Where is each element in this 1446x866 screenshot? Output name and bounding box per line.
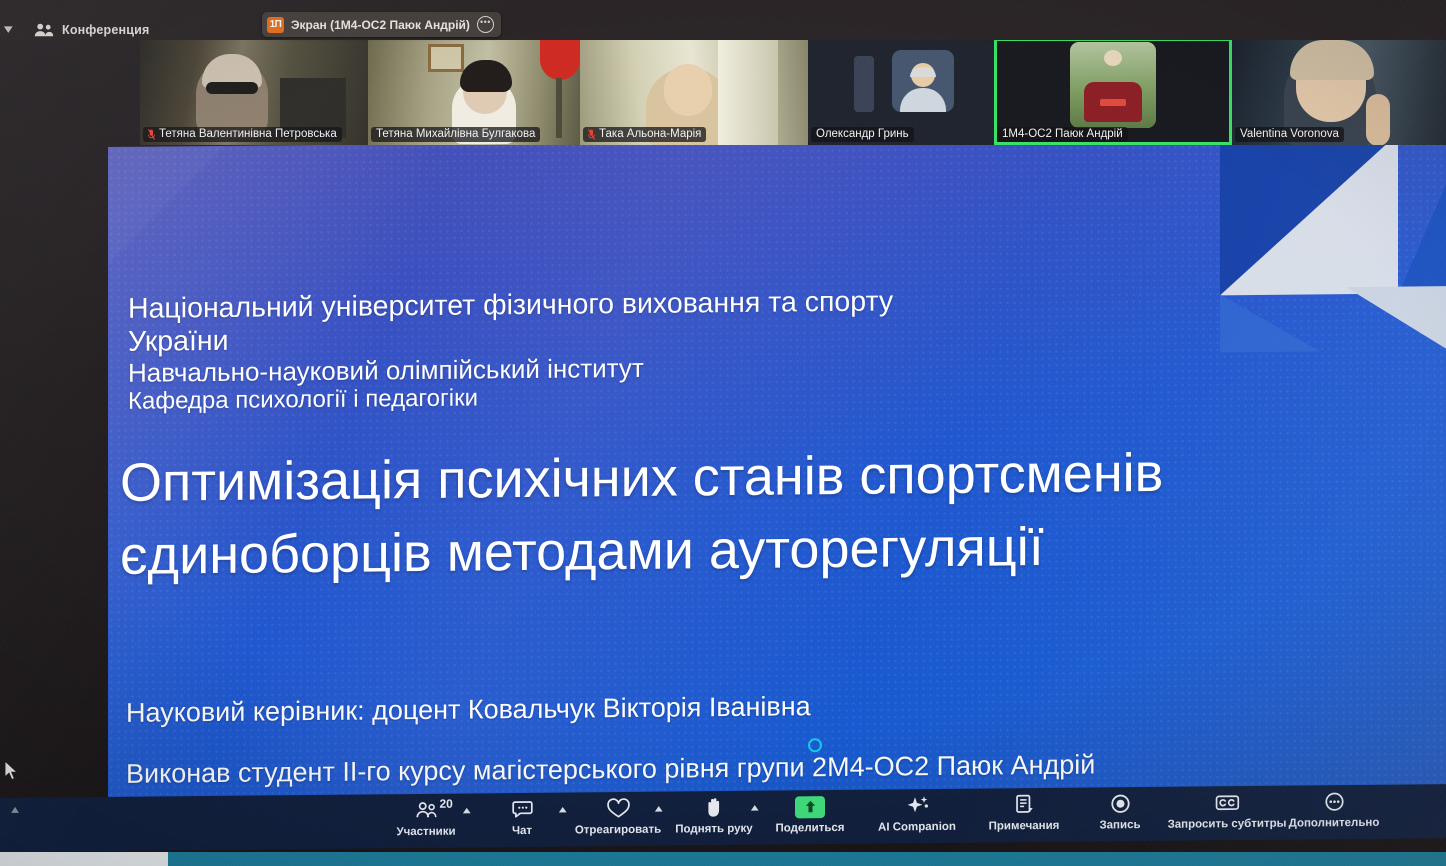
- more-options-icon[interactable]: •••: [477, 16, 494, 33]
- participant-thumbnail[interactable]: Така Альона-Марія: [580, 38, 808, 145]
- record-icon: [1110, 791, 1131, 816]
- chevron-up-icon[interactable]: ▴: [655, 804, 663, 815]
- chevron-up-icon[interactable]: ▴: [559, 805, 567, 816]
- shared-presentation-slide[interactable]: Національний університет фізичного вихов…: [108, 134, 1446, 802]
- participant-name: Тетяна Валентинівна Петровська: [159, 128, 337, 140]
- closed-captions-button[interactable]: Запросить субтитры: [1168, 790, 1286, 831]
- participant-thumbnail[interactable]: Тетяна Валентинівна Петровська: [140, 38, 368, 145]
- participant-name-badge: Олександр Гринь: [811, 127, 914, 142]
- meeting-title: Конференция: [62, 23, 150, 37]
- slide-supervisor: Науковий керівник: доцент Ковальчук Вікт…: [126, 691, 811, 728]
- participant-name-badge: Тетяна Валентинівна Петровська: [143, 127, 342, 142]
- raise-hand-button[interactable]: Поднять руку ▴: [666, 795, 762, 836]
- laser-pointer-icon: [808, 738, 822, 752]
- share-source-label: Экран (1M4-OC2 Паюк Андрій): [291, 18, 470, 32]
- participant-thumbnail[interactable]: Valentina Voronova: [1232, 38, 1446, 145]
- participant-name: Тетяна Михайлівна Булгакова: [376, 128, 535, 140]
- os-taskbar-strip: [0, 852, 1446, 866]
- participant-name: Така Альона-Марія: [599, 128, 701, 140]
- mouse-pointer-icon: [4, 760, 20, 784]
- avatar-backdrop: [854, 56, 874, 112]
- slide-decor-triangle-dark: [1220, 134, 1398, 295]
- participant-name-badge: 1M4-OC2 Паюк Андрій: [997, 127, 1128, 142]
- slide-decor-square: [1220, 134, 1398, 295]
- avatar: [892, 50, 954, 112]
- more-label: Дополнительно: [1289, 817, 1380, 830]
- participant-thumbnail[interactable]: Тетяна Михайлівна Булгакова: [368, 38, 580, 145]
- slide-decor-left-wedge: [108, 145, 226, 266]
- notes-label: Примечания: [989, 820, 1060, 833]
- share-screen-icon: [795, 794, 825, 819]
- participants-icon: 20: [415, 798, 438, 823]
- taskbar-right-pane: [168, 852, 1446, 866]
- muted-mic-icon: [588, 129, 595, 140]
- chevron-down-icon[interactable]: ▾: [4, 22, 13, 35]
- muted-mic-icon: [148, 129, 155, 140]
- ai-companion-label: AI Companion: [878, 821, 956, 834]
- slide-organization-block: Національний університет фізичного вихов…: [128, 281, 1358, 416]
- participant-name: Valentina Voronova: [1240, 128, 1339, 140]
- share-source-badge: 1П: [267, 17, 284, 33]
- share-screen-button[interactable]: Поделиться: [762, 794, 858, 835]
- participant-name: Олександр Гринь: [816, 128, 909, 140]
- photographed-screen: ▾ Конференция 1П Экран (1M4-OC2 Паюк Анд…: [0, 0, 1446, 866]
- raise-hand-icon: [704, 795, 725, 820]
- ai-sparkle-icon: [905, 793, 930, 818]
- more-dots-icon: [1324, 789, 1345, 814]
- record-button[interactable]: Запись: [1072, 791, 1168, 832]
- slide-decor-triangle-corner: [1346, 286, 1446, 362]
- share-screen-label: Поделиться: [775, 822, 844, 835]
- closed-captions-icon: [1215, 790, 1240, 815]
- zoom-app-window: ▾ Конференция 1П Экран (1M4-OC2 Паюк Анд…: [0, 0, 1446, 866]
- slide-author: Виконав студент II-го курсу магістерсько…: [126, 748, 1446, 788]
- participant-name-badge: Тетяна Михайлівна Булгакова: [371, 127, 540, 142]
- chat-icon: [511, 797, 534, 822]
- slide-decor-triangle-right: [1398, 134, 1446, 295]
- people-icon: [34, 23, 54, 37]
- notes-button[interactable]: Примечания: [976, 792, 1072, 833]
- screen-share-indicator[interactable]: 1П Экран (1M4-OC2 Паюк Андрій) •••: [262, 12, 501, 37]
- zoom-top-bar: ▾ Конференция 1П Экран (1M4-OC2 Паюк Анд…: [0, 0, 1446, 40]
- chevron-up-icon[interactable]: ▴: [463, 805, 471, 816]
- chevron-up-icon[interactable]: ▴: [751, 803, 759, 814]
- notes-icon: [1014, 792, 1035, 817]
- avatar: [1070, 42, 1156, 128]
- participants-label: Участники: [396, 826, 455, 839]
- taskbar-left-pane: [0, 852, 168, 866]
- record-label: Запись: [1099, 819, 1140, 831]
- participant-name-badge: Така Альона-Марія: [583, 127, 706, 142]
- participant-thumbnail-strip[interactable]: Тетяна Валентинівна Петровська Тетяна Ми…: [140, 38, 1446, 145]
- closed-captions-label: Запросить субтитры: [1168, 818, 1287, 831]
- participant-thumbnail[interactable]: Олександр Гринь: [808, 38, 994, 145]
- participant-thumbnail-active-speaker[interactable]: 1M4-OC2 Паюк Андрій: [994, 38, 1232, 145]
- ai-companion-button[interactable]: AI Companion: [858, 793, 976, 834]
- slide-footer-block: Науковий керівник: доцент Ковальчук Вікт…: [126, 687, 1446, 788]
- more-button[interactable]: Дополнительно: [1286, 789, 1382, 830]
- reactions-label: Отреагировать: [575, 824, 661, 837]
- participants-button[interactable]: 20 Участники ▴: [378, 797, 474, 838]
- chevron-up-icon[interactable]: ▴: [11, 802, 19, 816]
- raise-hand-label: Поднять руку: [675, 823, 752, 836]
- chat-button[interactable]: Чат ▴: [474, 797, 570, 838]
- reactions-button[interactable]: Отреагировать ▴: [570, 796, 666, 837]
- participant-name-badge: Valentina Voronova: [1235, 127, 1344, 142]
- chat-label: Чат: [512, 825, 532, 837]
- reactions-heart-icon: [606, 796, 631, 821]
- slide-title: Оптимізація психічних станів спортсменів…: [120, 436, 1300, 593]
- participant-name: 1M4-OC2 Паюк Андрій: [1002, 128, 1123, 140]
- participants-count: 20: [440, 797, 453, 811]
